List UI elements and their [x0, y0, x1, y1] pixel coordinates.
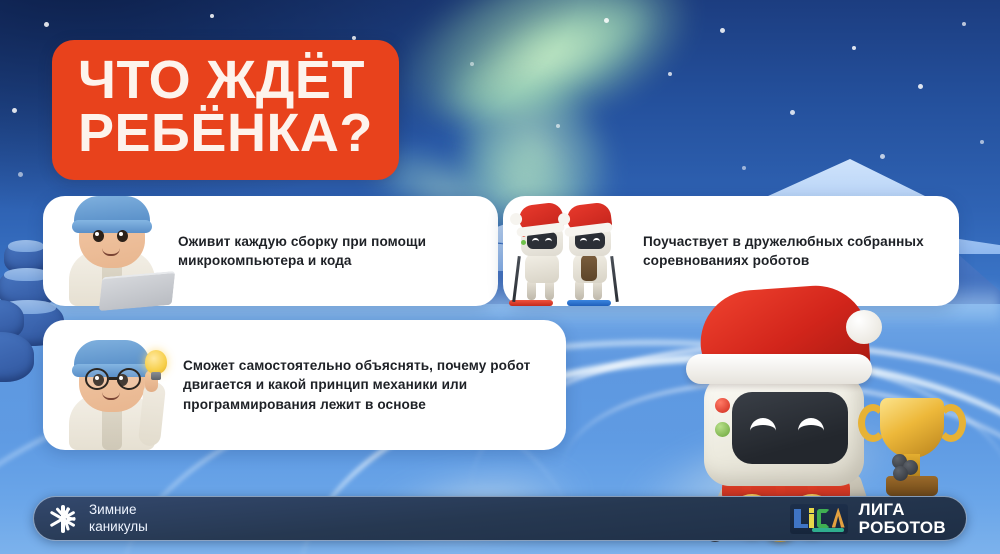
benefit-card-microcomputer[interactable]: Оживит каждую сборку при помощи микроком… — [43, 196, 498, 306]
card-illustration-boy-with-idea — [43, 320, 183, 450]
title-line-1: ЧТО ЖДЁТ — [78, 54, 373, 107]
brand-name: ЛИГА РОБОТОВ — [859, 501, 946, 536]
footer-label-line-1: Зимние — [89, 502, 148, 518]
card-illustration-boy-with-laptop — [43, 196, 178, 306]
card-text: Сможет самостоятельно объяснять, почему … — [183, 356, 553, 414]
mascot-santa-robot: ★ ★ ★ — [618, 288, 978, 518]
ski-robot-icon — [561, 204, 619, 304]
footer-bar: Зимние каникулы ЛИГА РОБОТОВ — [33, 496, 967, 541]
brand-line-2: РОБОТОВ — [859, 519, 946, 537]
liga-robotov-logo-icon — [790, 504, 848, 534]
lightbulb-icon — [145, 350, 167, 374]
page-title: ЧТО ЖДЁТ РЕБЁНКА? — [52, 40, 399, 180]
snowflake-icon — [48, 504, 78, 534]
boy-character-icon — [57, 330, 167, 450]
brand-line-1: ЛИГА — [859, 501, 946, 519]
footer-left-group: Зимние каникулы — [48, 502, 148, 534]
card-text: Поучаствует в дружелюбных собранных соре… — [643, 232, 943, 271]
glasses-icon — [84, 368, 142, 392]
laptop-icon — [99, 271, 176, 311]
footer-campaign-label: Зимние каникулы — [89, 502, 148, 534]
benefit-card-explain[interactable]: Сможет самостоятельно объяснять, почему … — [43, 320, 566, 450]
slide-root: ЧТО ЖДЁТ РЕБЁНКА? Оживит каждую сборку п… — [0, 0, 1000, 554]
footer-label-line-2: каникулы — [89, 519, 148, 535]
title-line-2: РЕБЁНКА? — [78, 107, 373, 160]
footer-right-group: ЛИГА РОБОТОВ — [790, 501, 946, 536]
card-text: Оживит каждую сборку при помощи микроком… — [178, 232, 478, 271]
